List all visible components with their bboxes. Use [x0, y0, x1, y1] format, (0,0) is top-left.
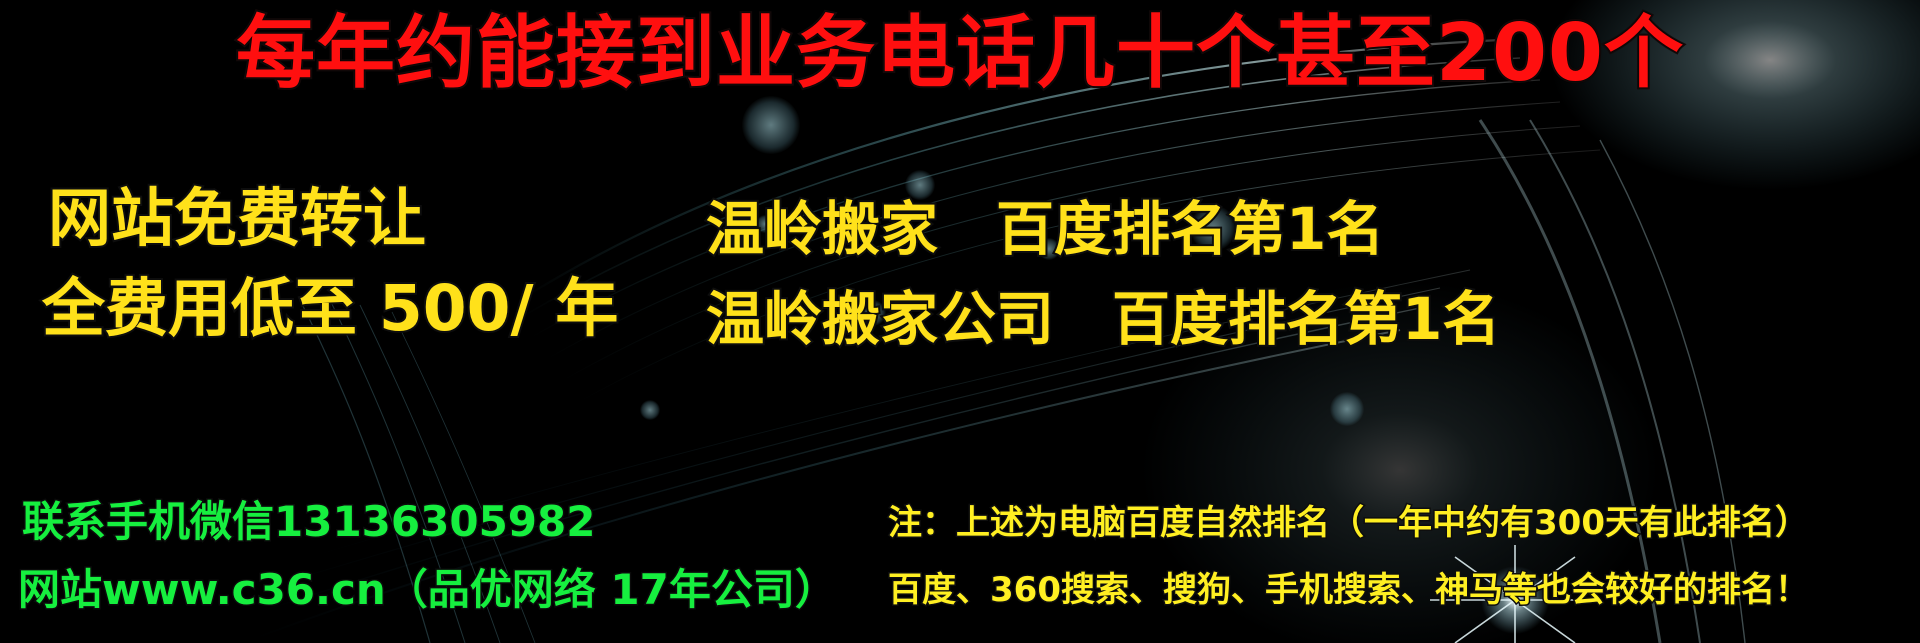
note-line-1: 注：上述为电脑百度自然排名（一年中约有300天有此排名） — [888, 495, 1809, 544]
bokeh-dot — [1330, 392, 1364, 426]
contact-website-line: 网站www.c36.cn（品优网络 17年公司） — [18, 556, 837, 617]
offer-line-2: 全费用低至 500/ 年 — [42, 258, 618, 349]
ranking-line-2: 温岭搬家公司 百度排名第1名 — [706, 272, 1500, 356]
ranking-line-1: 温岭搬家 百度排名第1名 — [706, 182, 1384, 266]
note-line-2: 百度、360搜索、搜狗、手机搜索、神马等也会较好的排名！ — [888, 562, 1809, 611]
headline: 每年约能接到业务电话几十个甚至200个 — [0, 14, 1920, 93]
offer-line-1: 网站免费转让 — [48, 168, 426, 259]
contact-phone-line: 联系手机微信13136305982 — [22, 488, 595, 549]
promo-banner: 每年约能接到业务电话几十个甚至200个 网站免费转让 全费用低至 500/ 年 … — [0, 0, 1920, 643]
bokeh-dot — [640, 400, 660, 420]
bokeh-dot — [742, 96, 800, 154]
